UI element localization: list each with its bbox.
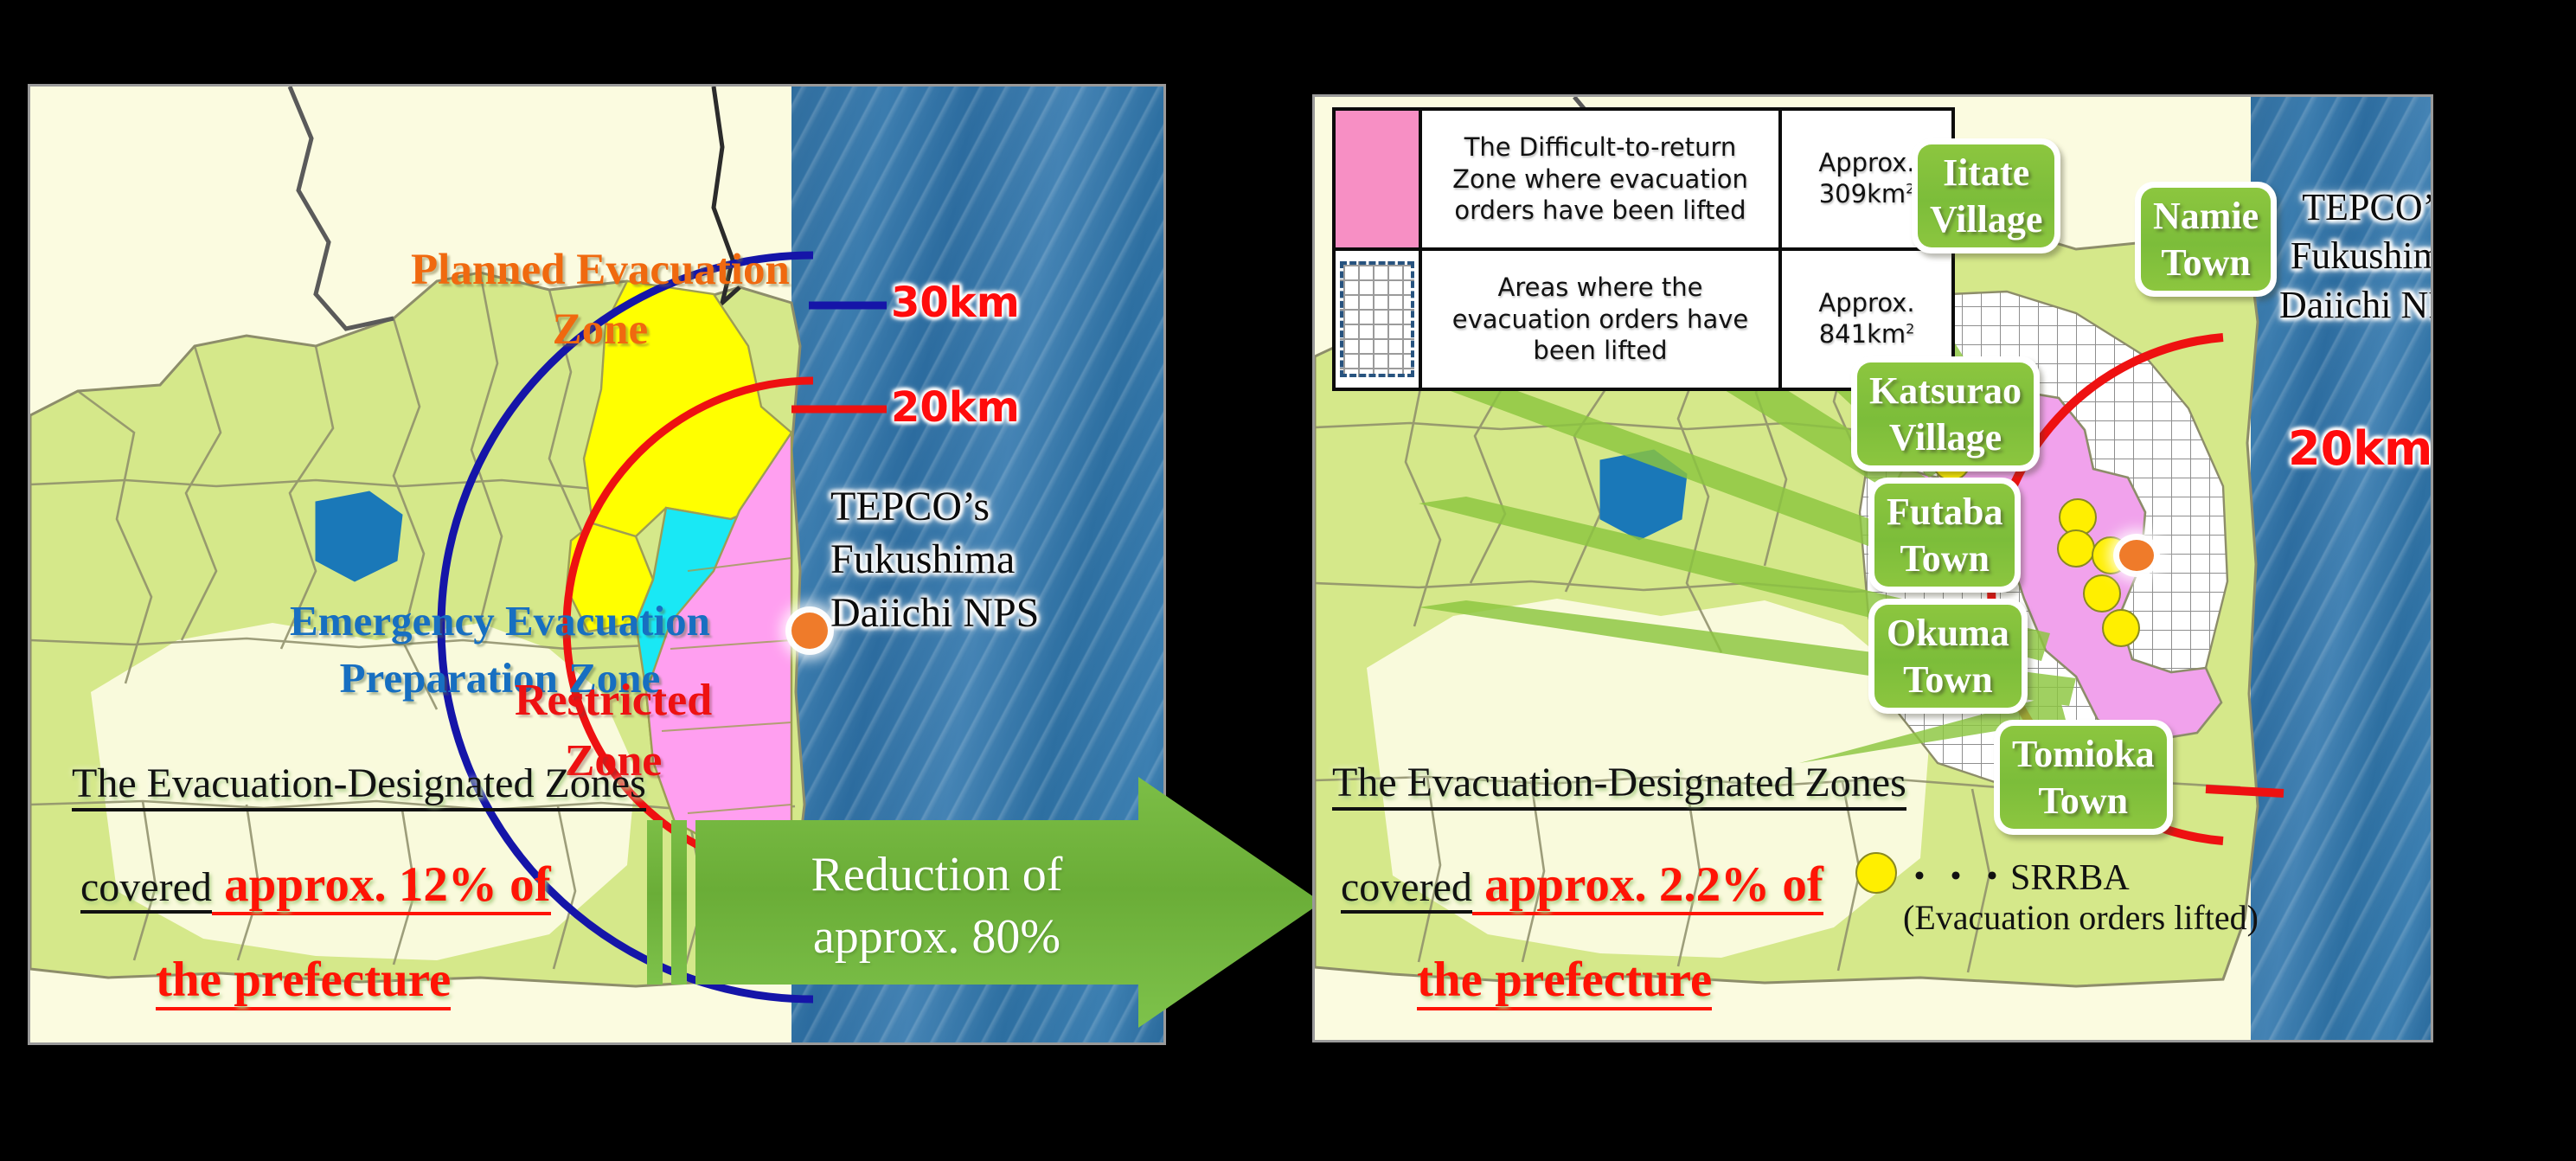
npp-label-left: TEPCO’s Fukushima Daiichi NPS bbox=[830, 480, 1039, 639]
town-badge-futaba-town-inner: Futaba Town bbox=[1874, 484, 2015, 587]
srrba-key-dot bbox=[1855, 852, 1897, 894]
town-badge-futaba-town[interactable]: Futaba Town bbox=[1868, 478, 2021, 593]
reduction-arrow-line1: Reduction of bbox=[751, 844, 1123, 907]
legend-r1-area-value: 309km bbox=[1819, 179, 1906, 208]
namie-town-line2: Town bbox=[2153, 240, 2259, 286]
pink-swatch bbox=[1336, 111, 1419, 247]
right-caption-prefecture-line: the prefecture bbox=[1417, 952, 1712, 1008]
right-caption-covered: covered bbox=[1341, 864, 1472, 914]
ring-20km-label-right: 20km bbox=[2288, 421, 2431, 476]
ring-30km-label: 30km bbox=[891, 279, 1020, 327]
namie-town-line1: Namie bbox=[2153, 193, 2259, 240]
planned-evacuation-zone-label: Planned Evacuation Zone bbox=[411, 241, 790, 360]
legend-r2-line2: evacuation orders have bbox=[1452, 304, 1748, 336]
reduction-arrow-text: Reduction of approx. 80% bbox=[751, 844, 1123, 968]
npp-location-marker-right bbox=[2119, 540, 2154, 571]
left-caption-covered: covered bbox=[80, 864, 212, 914]
npp-label-left-line1: TEPCO’s bbox=[830, 480, 1039, 533]
emergency-zone-label-line1: Emergency Evacuation bbox=[290, 593, 710, 650]
town-badge-iitate-village-inner: Iitate Village bbox=[1918, 144, 2054, 247]
right-caption-prefecture: the prefecture bbox=[1417, 953, 1712, 1010]
town-badge-katsurao-village-inner: Katsurao Village bbox=[1857, 362, 2034, 465]
town-badge-katsurao-village[interactable]: Katsurao Village bbox=[1851, 356, 2040, 471]
npp-location-marker-left bbox=[791, 613, 828, 649]
legend-description-difficult-to-return: The Difficult-to-return Zone where evacu… bbox=[1422, 111, 1782, 247]
legend-r2-area-superscript: 2 bbox=[1906, 320, 1914, 337]
npp-label-right-line3: Daiichi NPS bbox=[2279, 281, 2431, 330]
ring-20km-label: 20km bbox=[891, 383, 1020, 432]
right-map-panel: The Difficult-to-return Zone where evacu… bbox=[1315, 97, 2431, 1040]
right-caption-heading: The Evacuation-Designated Zones bbox=[1332, 759, 1906, 811]
srrba-dot bbox=[2083, 574, 2121, 613]
legend-r1-line1: The Difficult-to-return bbox=[1452, 131, 1748, 164]
legend-r1-area-prefix: Approx. bbox=[1818, 148, 1914, 179]
okuma-town-line2: Town bbox=[1887, 657, 2009, 703]
town-badge-okuma-town[interactable]: Okuma Town bbox=[1868, 599, 2028, 714]
srrba-dot bbox=[2102, 609, 2140, 647]
legend-swatch-difficult-to-return bbox=[1336, 111, 1422, 247]
legend-swatch-lifted-areas bbox=[1336, 251, 1422, 388]
legend-r2-area-value: 841km bbox=[1819, 319, 1906, 349]
npp-label-right-line1: TEPCO’s bbox=[2279, 183, 2431, 232]
town-badge-tomioka-town-inner: Tomioka Town bbox=[2000, 726, 2167, 829]
restricted-zone-label-line1: Restricted bbox=[515, 670, 712, 731]
npp-label-left-line3: Daiichi NPS bbox=[830, 587, 1039, 639]
town-badge-namie-town-inner: Namie Town bbox=[2141, 188, 2271, 291]
legend-r1-line3: orders have been lifted bbox=[1452, 195, 1748, 227]
legend-r2-area-prefix: Approx. bbox=[1818, 288, 1914, 319]
iitate-village-line1: Iitate bbox=[1930, 150, 2042, 196]
legend-description-lifted-areas: Areas where the evacuation orders have b… bbox=[1422, 251, 1782, 388]
legend-table: The Difficult-to-return Zone where evacu… bbox=[1332, 107, 1955, 391]
katsurao-village-line2: Village bbox=[1869, 414, 2022, 461]
right-caption-percent-line: covered approx. 2.2% of bbox=[1341, 856, 1823, 913]
planned-evacuation-zone-label-line1: Planned Evacuation bbox=[411, 241, 790, 300]
katsurao-village-line1: Katsurao bbox=[1869, 368, 2022, 414]
futaba-town-line2: Town bbox=[1887, 536, 2002, 582]
okuma-town-line1: Okuma bbox=[1887, 610, 2009, 657]
left-caption-heading: The Evacuation-Designated Zones bbox=[72, 760, 646, 811]
legend-r1-line2: Zone where evacuation bbox=[1452, 164, 1748, 196]
reduction-arrow: Reduction of approx. 80% bbox=[647, 777, 1322, 1028]
grid-swatch bbox=[1340, 261, 1415, 377]
town-badge-iitate-village[interactable]: Iitate Village bbox=[1912, 138, 2060, 253]
iitate-village-line2: Village bbox=[1930, 196, 2042, 243]
npp-label-right-line2: Fukushima bbox=[2279, 232, 2431, 280]
left-caption-prefecture-line: the prefecture bbox=[156, 952, 451, 1008]
right-caption-percent: approx. 2.2% of bbox=[1484, 857, 1823, 915]
futaba-town-line1: Futaba bbox=[1887, 489, 2002, 536]
reduction-arrow-line2: approx. 80% bbox=[751, 907, 1123, 969]
npp-label-right: TEPCO’s Fukushima Daiichi NPS bbox=[2279, 183, 2431, 330]
srrba-dot bbox=[2057, 529, 2095, 568]
npp-label-left-line2: Fukushima bbox=[830, 533, 1039, 586]
left-caption-percent-line: covered approx. 12% of bbox=[80, 856, 551, 913]
legend-r2-line1: Areas where the bbox=[1452, 272, 1748, 304]
town-badge-okuma-town-inner: Okuma Town bbox=[1874, 605, 2022, 708]
left-caption-percent: approx. 12% of bbox=[224, 857, 550, 915]
town-badge-namie-town[interactable]: Namie Town bbox=[2135, 182, 2277, 297]
town-badge-tomioka-town[interactable]: Tomioka Town bbox=[1994, 720, 2173, 835]
planned-evacuation-zone-label-line2: Zone bbox=[411, 300, 790, 360]
srrba-key-label: ・・・SRRBA bbox=[1901, 848, 2130, 901]
left-caption-prefecture: the prefecture bbox=[156, 953, 451, 1010]
legend-row-difficult-to-return: The Difficult-to-return Zone where evacu… bbox=[1336, 111, 1951, 251]
legend-r2-line3: been lifted bbox=[1452, 335, 1748, 367]
srrba-key-sublabel: (Evacuation orders lifted) bbox=[1903, 897, 2259, 938]
tomioka-town-line1: Tomioka bbox=[2012, 731, 2155, 778]
tomioka-town-line2: Town bbox=[2012, 778, 2155, 824]
